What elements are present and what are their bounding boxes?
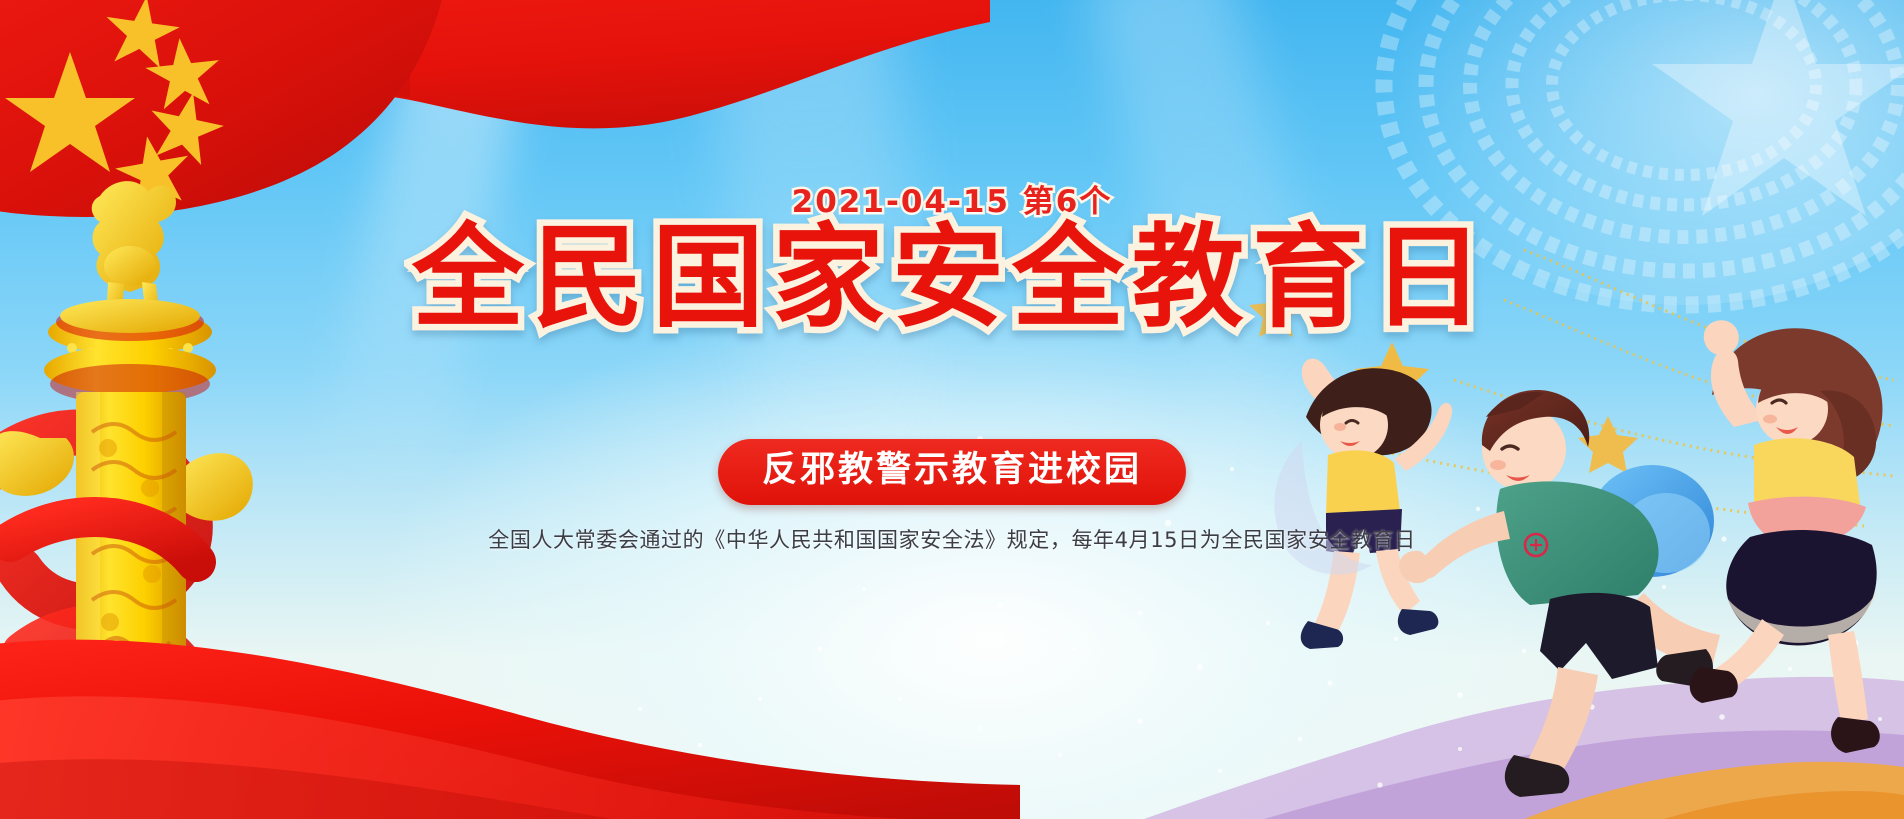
text-block: 2021-04-15 第6个 全民国家安全教育日 反邪教警示教育进校园 全国人大… xyxy=(0,0,1904,819)
subtitle-banner: 反邪教警示教育进校园 xyxy=(718,439,1186,505)
description-text: 全国人大常委会通过的《中华人民共和国国家安全法》规定，每年4月15日为全民国家安… xyxy=(0,524,1904,554)
page-title: 全民国家安全教育日 xyxy=(0,218,1904,339)
subtitle-banner-label: 反邪教警示教育进校园 xyxy=(762,450,1142,491)
poster-canvas: 2021-04-15 第6个 全民国家安全教育日 反邪教警示教育进校园 全国人大… xyxy=(0,0,1904,819)
